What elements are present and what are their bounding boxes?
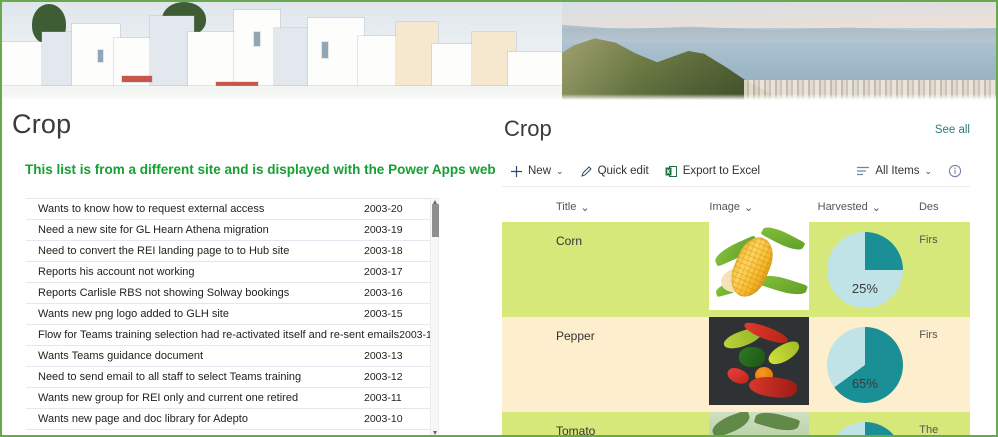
list-grid: Title ⌄ Image ⌄ Harvested ⌄ Des Corn25%F… bbox=[502, 192, 970, 437]
page-root: Crop This list is from a different site … bbox=[0, 0, 998, 437]
quick-edit-label: Quick edit bbox=[598, 165, 649, 177]
list-item-title: Need to send email to all staff to selec… bbox=[26, 371, 364, 383]
column-header-harvested[interactable]: Harvested ⌄ bbox=[808, 201, 911, 214]
cell-title: Corn bbox=[502, 222, 699, 317]
hero-banner-image bbox=[2, 2, 996, 100]
list-item-id: 2003-16 bbox=[364, 287, 438, 299]
excel-icon bbox=[665, 165, 678, 178]
cell-image bbox=[699, 317, 809, 412]
corn-photo bbox=[709, 222, 809, 310]
grid-header-row: Title ⌄ Image ⌄ Harvested ⌄ Des bbox=[502, 192, 970, 222]
harvested-pie-label: 65% bbox=[827, 376, 903, 391]
list-item-id: 2003-12 bbox=[364, 371, 438, 383]
list-item-id: 2003-11 bbox=[364, 392, 438, 404]
list-item[interactable]: Wants Teams guidance document2003-13 bbox=[26, 346, 438, 367]
tomato-photo bbox=[709, 412, 809, 437]
harvested-pie-chart: 65% bbox=[827, 327, 903, 403]
list-item[interactable]: Need to send email to all staff to selec… bbox=[26, 367, 438, 388]
list-item-title: Wants Teams guidance document bbox=[26, 350, 364, 362]
list-item[interactable]: Flow for Teams training selection had re… bbox=[26, 325, 438, 346]
harvested-pie-label: 25% bbox=[827, 281, 903, 296]
harvested-pie-chart bbox=[827, 422, 903, 437]
list-item-title: Reports Carlisle RBS not showing Solway … bbox=[26, 287, 364, 299]
list-item[interactable]: Reports his account not working2003-17 bbox=[26, 262, 438, 283]
left-panel-note: This list is from a different site and i… bbox=[25, 162, 485, 177]
view-label: All Items bbox=[875, 165, 919, 177]
list-item[interactable]: Wants to know how to request external ac… bbox=[26, 199, 438, 220]
cell-description: Firs bbox=[911, 222, 970, 317]
list-title: Crop bbox=[504, 116, 552, 142]
column-header-title[interactable]: Title ⌄ bbox=[502, 201, 699, 214]
cell-title: Tomato bbox=[502, 412, 699, 437]
column-header-harvested-label: Harvested bbox=[818, 201, 868, 213]
harvested-pie-chart: 25% bbox=[827, 232, 903, 308]
cell-harvested bbox=[809, 412, 912, 437]
hero-hillside-village bbox=[2, 2, 562, 100]
filter-lines-icon bbox=[856, 165, 870, 177]
list-item[interactable]: Wants new page and doc library for Adept… bbox=[26, 409, 438, 430]
list-item-title: Wants new group for REI only and current… bbox=[26, 392, 364, 404]
table-row[interactable]: Corn25%Firs bbox=[502, 222, 970, 317]
list-item-title: Wants new page and doc library for Adept… bbox=[26, 413, 364, 425]
left-list-scrollbar[interactable] bbox=[430, 198, 439, 437]
list-item[interactable]: Wants new png logo added to GLH site2003… bbox=[26, 304, 438, 325]
list-item-title: Need a new site for GL Hearn Athena migr… bbox=[26, 224, 364, 236]
list-item-title: Wants to know how to request external ac… bbox=[26, 203, 364, 215]
new-button[interactable]: New ⌄ bbox=[502, 163, 572, 180]
list-item-id: 2003-17 bbox=[364, 266, 438, 278]
view-selector[interactable]: All Items ⌄ bbox=[848, 163, 940, 179]
sharepoint-list-webpart: Crop See all New ⌄ Quick edit bbox=[496, 100, 996, 437]
table-row[interactable]: Pepper65%Firs bbox=[502, 317, 970, 412]
list-item-id: 2003-15 bbox=[364, 308, 438, 320]
list-item[interactable]: Wants advice on a SharePoint permissions… bbox=[26, 430, 438, 437]
see-all-link[interactable]: See all bbox=[935, 124, 970, 136]
pencil-icon bbox=[580, 165, 593, 178]
list-item-id: 2003-13 bbox=[364, 350, 438, 362]
list-item-id: 2003-10 bbox=[364, 413, 438, 425]
pepper-photo bbox=[709, 317, 809, 405]
scroll-down-arrow-icon[interactable] bbox=[433, 431, 437, 435]
cell-image bbox=[699, 222, 809, 317]
list-item-id: 2003-19 bbox=[364, 224, 438, 236]
chevron-down-icon: ⌄ bbox=[556, 166, 564, 177]
column-header-image[interactable]: Image ⌄ bbox=[699, 201, 807, 214]
table-row[interactable]: TomatoThe bbox=[502, 412, 970, 437]
chevron-down-icon: ⌄ bbox=[744, 201, 753, 214]
list-item-id: 2003-20 bbox=[364, 203, 438, 215]
list-item-title: Reports his account not working bbox=[26, 266, 364, 278]
info-circle-icon bbox=[948, 164, 962, 178]
new-label: New bbox=[528, 165, 551, 177]
left-panel-title: Crop bbox=[12, 109, 71, 140]
cell-description: Firs bbox=[911, 317, 970, 412]
list-item-title: Wants new png logo added to GLH site bbox=[26, 308, 364, 320]
cell-description: The bbox=[911, 412, 970, 437]
column-header-image-label: Image bbox=[709, 201, 740, 213]
list-item[interactable]: Need a new site for GL Hearn Athena migr… bbox=[26, 220, 438, 241]
scrollbar-thumb[interactable] bbox=[432, 204, 439, 237]
column-header-description-label: Des bbox=[919, 201, 939, 213]
list-item[interactable]: Reports Carlisle RBS not showing Solway … bbox=[26, 283, 438, 304]
list-item[interactable]: Need to convert the REI landing page to … bbox=[26, 241, 438, 262]
column-header-title-label: Title bbox=[556, 201, 576, 213]
left-webpart-panel: Crop This list is from a different site … bbox=[2, 100, 496, 437]
cell-title: Pepper bbox=[502, 317, 699, 412]
quick-edit-button[interactable]: Quick edit bbox=[572, 163, 657, 180]
cell-image bbox=[699, 412, 809, 437]
power-apps-list[interactable]: Wants to know how to request external ac… bbox=[26, 198, 438, 437]
chevron-down-icon: ⌄ bbox=[924, 166, 932, 177]
command-bar: New ⌄ Quick edit Export to Excel bbox=[502, 156, 970, 187]
list-item-title: Need to convert the REI landing page to … bbox=[26, 245, 364, 257]
list-info-button[interactable] bbox=[940, 162, 970, 180]
export-to-excel-button[interactable]: Export to Excel bbox=[657, 163, 768, 180]
list-item-title: Flow for Teams training selection had re… bbox=[26, 329, 399, 341]
export-to-excel-label: Export to Excel bbox=[683, 165, 760, 177]
chevron-down-icon: ⌄ bbox=[872, 201, 881, 214]
plus-icon bbox=[510, 165, 523, 178]
cell-harvested: 25% bbox=[809, 222, 912, 317]
list-item[interactable]: Wants new group for REI only and current… bbox=[26, 388, 438, 409]
cell-harvested: 65% bbox=[809, 317, 912, 412]
list-item-id: 2003-18 bbox=[364, 245, 438, 257]
column-header-description[interactable]: Des bbox=[911, 201, 970, 213]
chevron-down-icon: ⌄ bbox=[580, 201, 589, 214]
grid-body: Corn25%FirsPepper65%FirsTomatoThe bbox=[502, 222, 970, 437]
